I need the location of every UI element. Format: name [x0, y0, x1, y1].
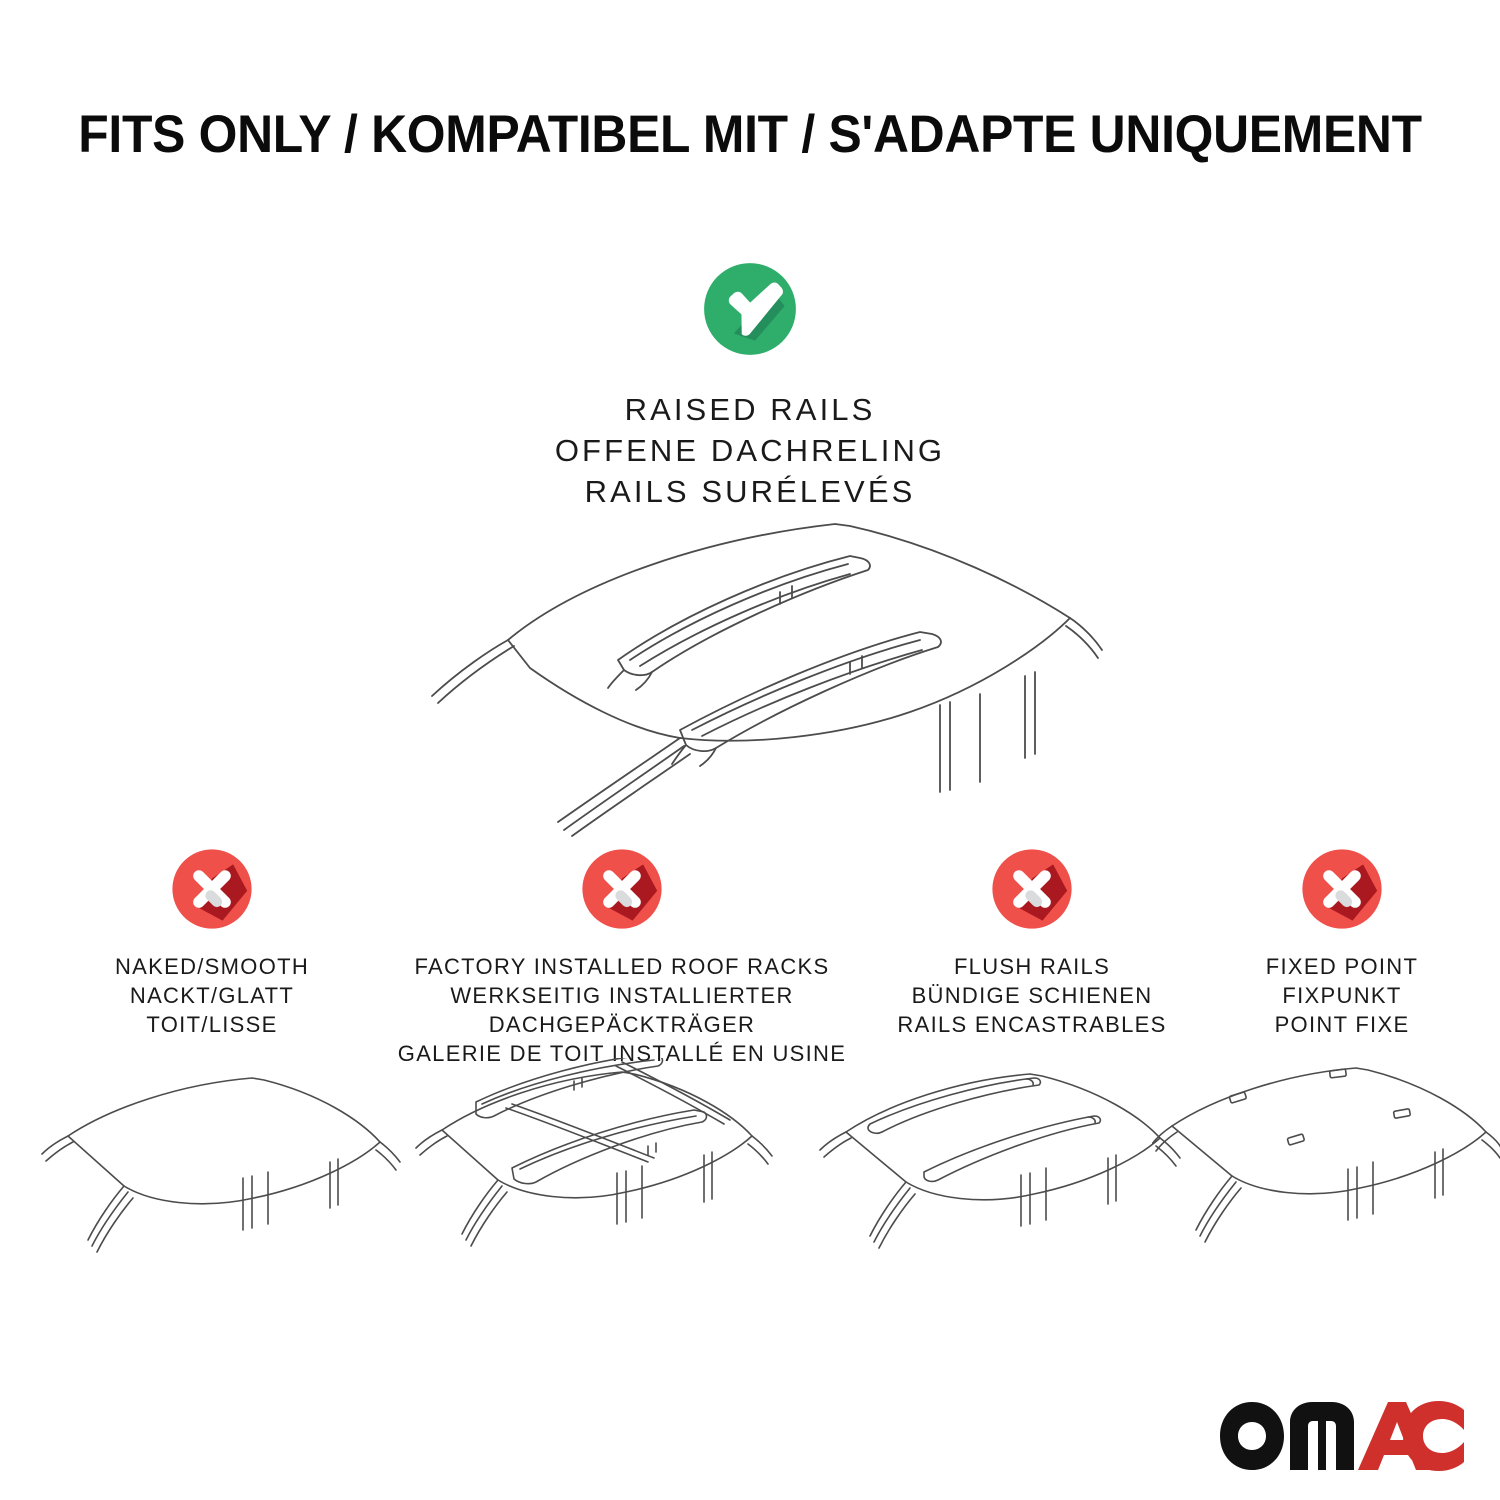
label-en: NAKED/SMOOTH [32, 952, 392, 981]
not-compatible-labels: FACTORY INSTALLED ROOF RACKS WERKSEITIG … [392, 952, 852, 1068]
compatible-label-en: RAISED RAILS [0, 389, 1500, 430]
compatible-labels: RAISED RAILS OFFENE DACHRELING RAILS SUR… [0, 389, 1500, 512]
label-de: BÜNDIGE SCHIENEN [862, 981, 1202, 1010]
label-en: FACTORY INSTALLED ROOF RACKS [392, 952, 852, 981]
label-fr: POINT FIXE [1202, 1010, 1482, 1039]
label-fr: TOIT/LISSE [32, 1010, 392, 1039]
label-de: NACKT/GLATT [32, 981, 392, 1010]
not-compatible-item-factory-roof-racks: FACTORY INSTALLED ROOF RACKS WERKSEITIG … [392, 845, 852, 1068]
label-fr: RAILS ENCASTRABLES [862, 1010, 1202, 1039]
car-roof-flush-rails-illustration [812, 1058, 1192, 1308]
compatible-section: RAISED RAILS OFFENE DACHRELING RAILS SUR… [0, 258, 1500, 512]
check-circle-icon [699, 258, 801, 360]
x-circle-icon [578, 845, 666, 933]
x-circle-icon [1298, 845, 1386, 933]
x-circle-icon [168, 845, 256, 933]
car-roof-raised-rails-illustration [380, 500, 1120, 840]
not-compatible-labels: FLUSH RAILS BÜNDIGE SCHIENEN RAILS ENCAS… [862, 952, 1202, 1039]
car-roof-factory-roof-racks-illustration [402, 1058, 782, 1308]
label-de-1: WERKSEITIG INSTALLIERTER [392, 981, 852, 1010]
not-compatible-item-fixed-point: FIXED POINT FIXPUNKT POINT FIXE [1202, 845, 1482, 1039]
label-de-2: DACHGEPÄCKTRÄGER [392, 1010, 852, 1039]
not-compatible-labels: FIXED POINT FIXPUNKT POINT FIXE [1202, 952, 1482, 1039]
label-en: FIXED POINT [1202, 952, 1482, 981]
label-de: FIXPUNKT [1202, 981, 1482, 1010]
car-roof-fixed-point-illustration [1152, 1058, 1500, 1308]
compatible-label-de: OFFENE DACHRELING [0, 430, 1500, 471]
label-en: FLUSH RAILS [862, 952, 1202, 981]
car-roof-naked-smooth-illustration [40, 1058, 410, 1308]
not-compatible-item-flush-rails: FLUSH RAILS BÜNDIGE SCHIENEN RAILS ENCAS… [862, 845, 1202, 1039]
omac-logo [1218, 1398, 1468, 1474]
not-compatible-item-naked-smooth: NAKED/SMOOTH NACKT/GLATT TOIT/LISSE [32, 845, 392, 1039]
not-compatible-labels: NAKED/SMOOTH NACKT/GLATT TOIT/LISSE [32, 952, 392, 1039]
x-circle-icon [988, 845, 1076, 933]
page-title: FITS ONLY / KOMPATIBEL MIT / S'ADAPTE UN… [45, 104, 1455, 165]
